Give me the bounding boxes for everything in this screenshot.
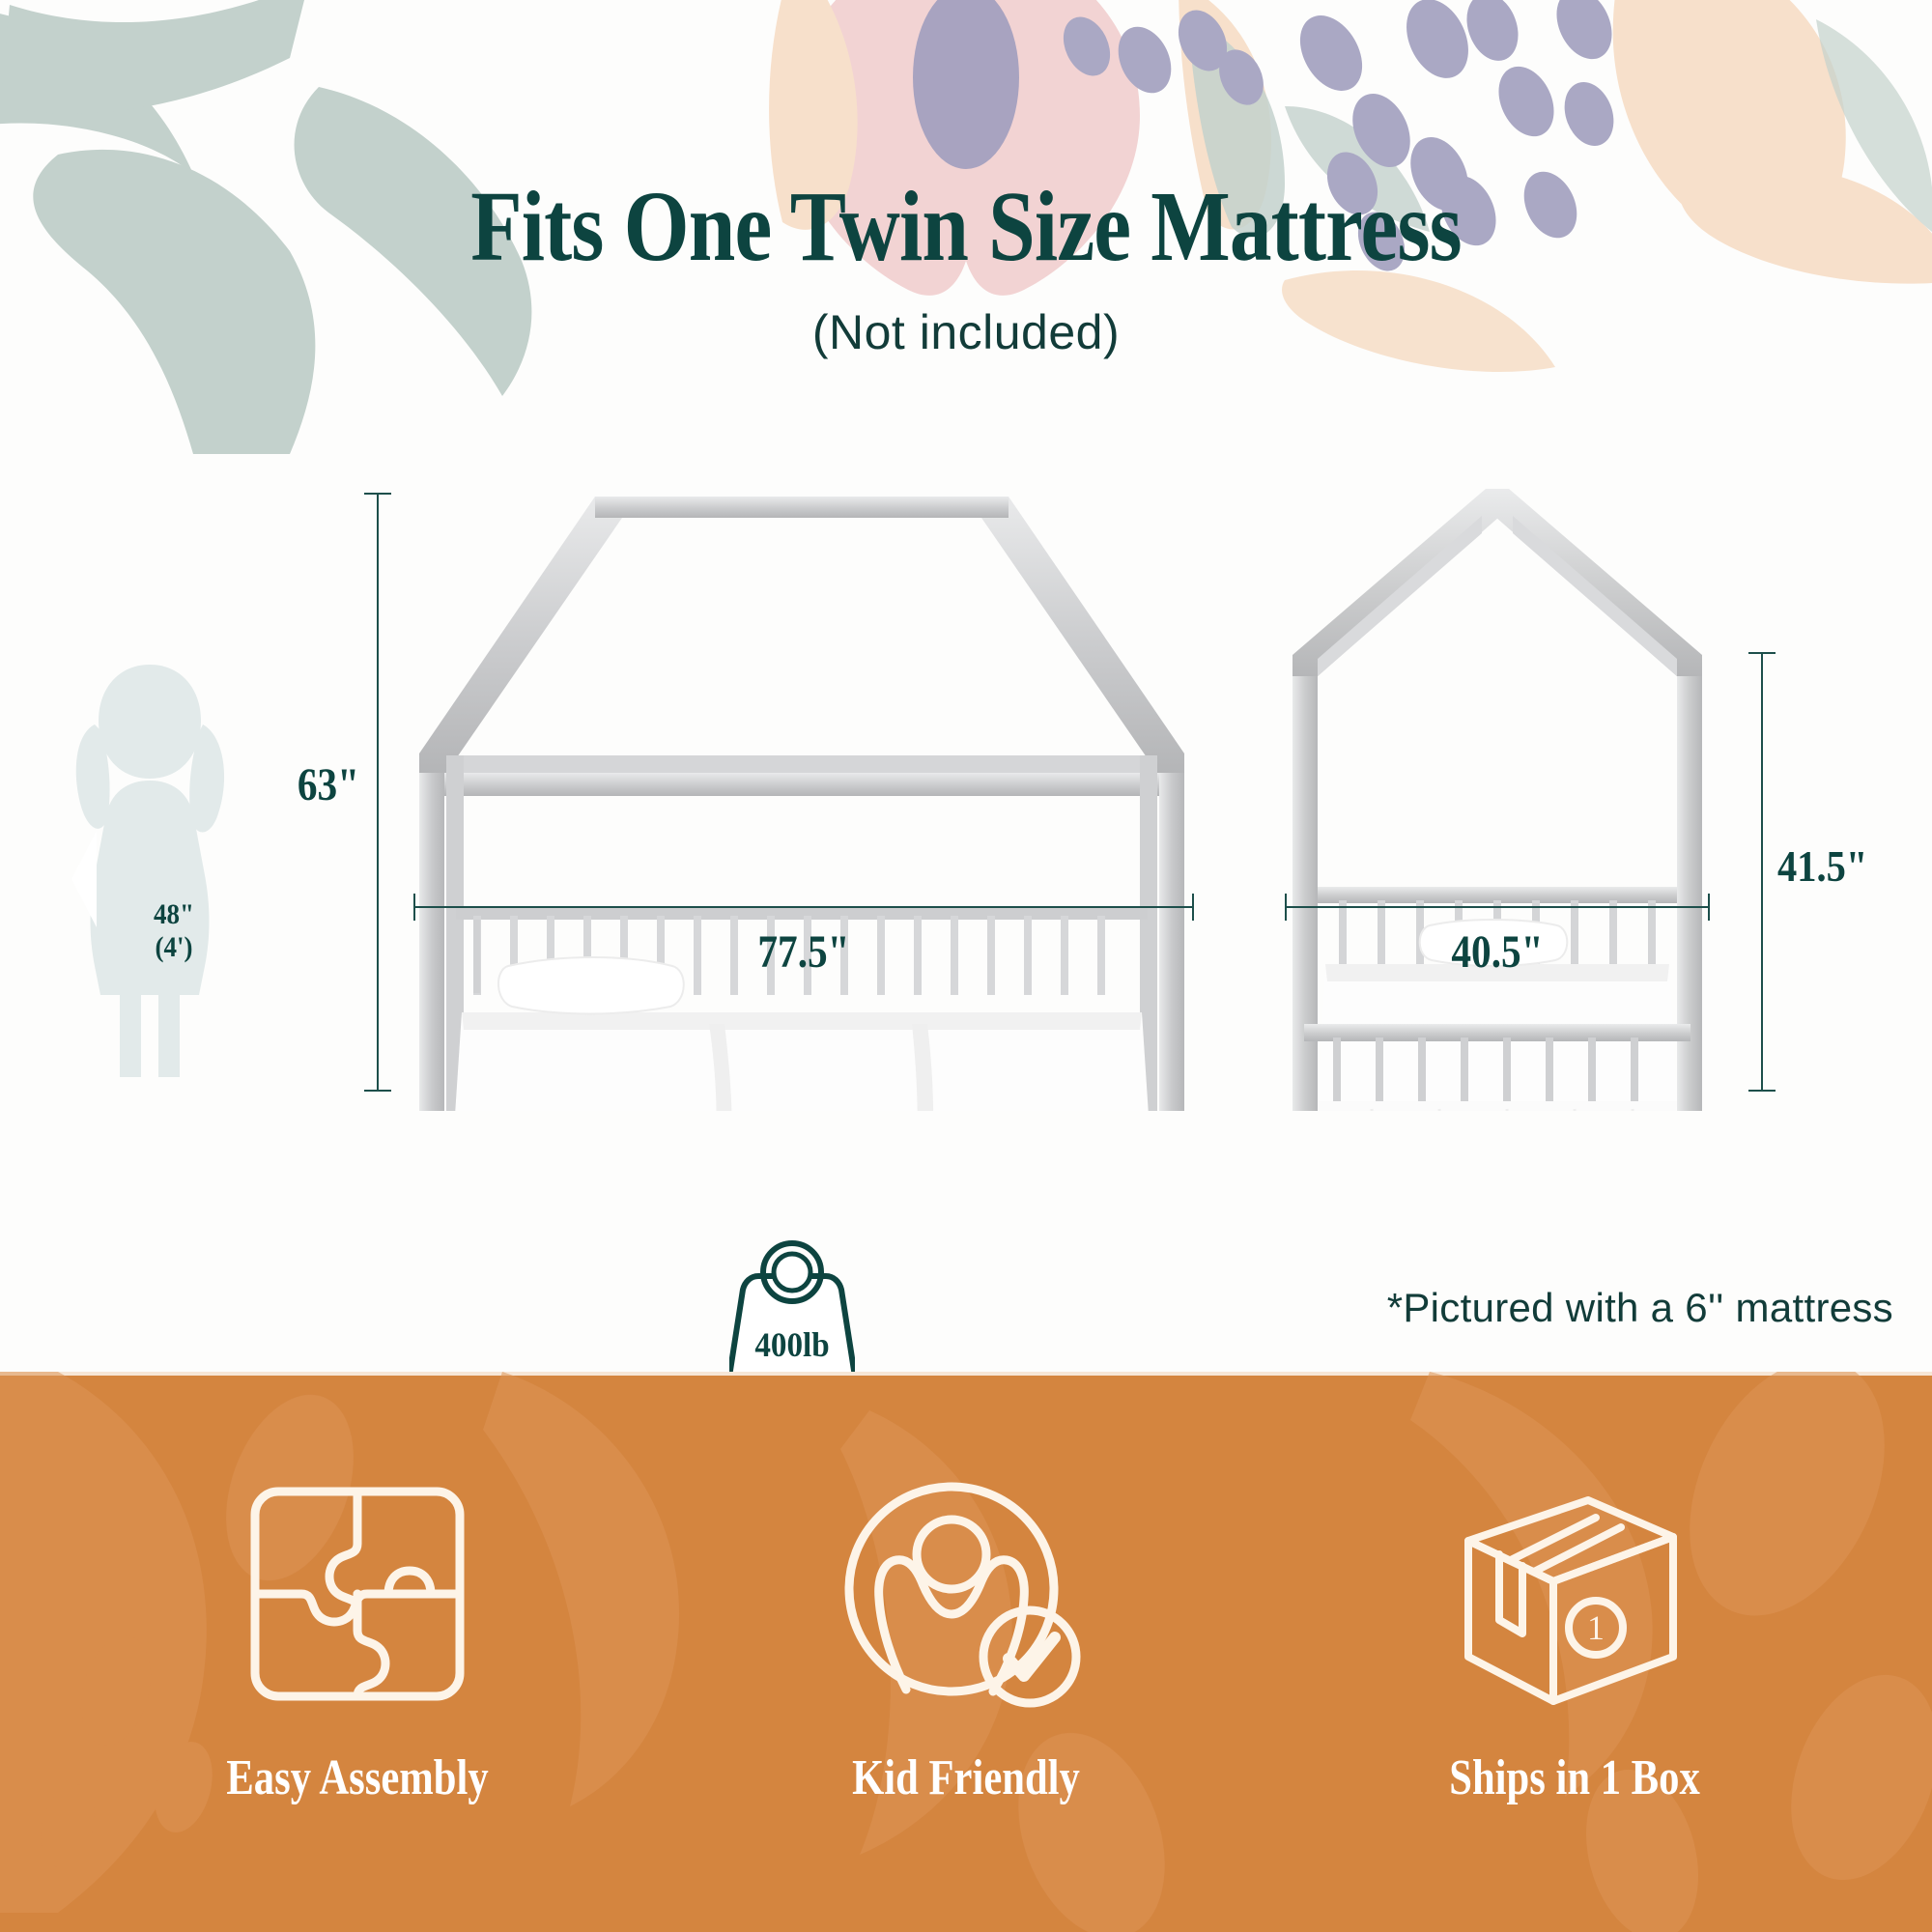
page-subtitle: (Not included) xyxy=(0,304,1932,360)
feature-label-ships-in-box: Ships in 1 Box xyxy=(1352,1749,1796,1806)
box-count-number: 1 xyxy=(1587,1608,1605,1647)
weight-capacity-badge: 400lb xyxy=(729,1232,855,1386)
silhouette-height-label: 48" (4') xyxy=(122,898,226,963)
height-dimension-line-front xyxy=(377,493,379,1092)
infographic-page: Fits One Twin Size Mattress (Not include… xyxy=(0,0,1932,1932)
feature-kid-friendly: Kid Friendly xyxy=(696,1463,1236,1806)
weight-capacity-label: 400lb xyxy=(734,1324,850,1365)
height-dimension-line-side xyxy=(1761,652,1763,1092)
height-dimension-label-front: 63" xyxy=(296,758,362,811)
header: Fits One Twin Size Mattress (Not include… xyxy=(0,0,1932,406)
puzzle-icon xyxy=(241,1478,473,1710)
product-diagram: 48" (4') 63" xyxy=(0,415,1932,1352)
silhouette-height-inches: 48" xyxy=(154,898,194,930)
kid-friendly-icon-wrap xyxy=(696,1463,1236,1724)
width-dimension-label-front: 77.5" xyxy=(688,925,921,979)
features-footer: Easy Assembly Kid Friendly xyxy=(0,1372,1932,1932)
page-title: Fits One Twin Size Mattress xyxy=(155,169,1777,284)
kid-friendly-icon xyxy=(840,1473,1092,1715)
bed-side-view xyxy=(1275,483,1719,1111)
silhouette-height-feet: (4') xyxy=(155,931,192,963)
child-silhouette-icon xyxy=(58,647,241,1101)
mattress-footnote: *Pictured with a 6'' mattress xyxy=(1387,1285,1893,1331)
width-dimension-line-front xyxy=(413,906,1194,908)
feature-label-kid-friendly: Kid Friendly xyxy=(744,1749,1187,1806)
bed-front-view xyxy=(406,483,1198,1111)
puzzle-icon-wrap xyxy=(87,1463,628,1724)
width-dimension-label-side: 40.5" xyxy=(1381,925,1614,979)
feature-easy-assembly: Easy Assembly xyxy=(87,1463,628,1806)
feature-label-easy-assembly: Easy Assembly xyxy=(135,1749,579,1806)
shipping-box-icon-wrap: 1 xyxy=(1304,1463,1845,1724)
width-dimension-line-side xyxy=(1285,906,1710,908)
feature-ships-in-box: 1 Ships in 1 Box xyxy=(1304,1463,1845,1806)
height-dimension-label-side: 41.5" xyxy=(1777,840,1905,892)
shipping-box-icon: 1 xyxy=(1449,1473,1700,1715)
